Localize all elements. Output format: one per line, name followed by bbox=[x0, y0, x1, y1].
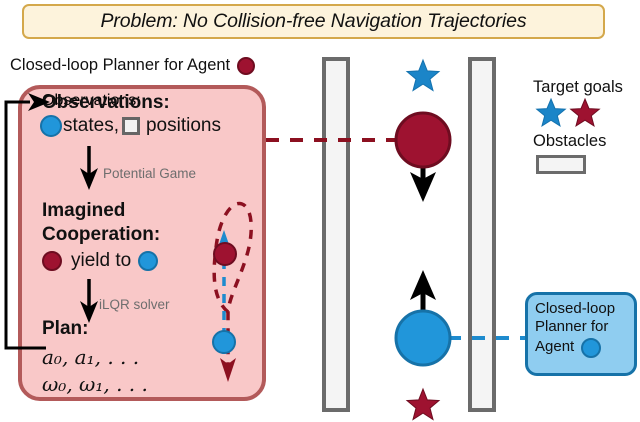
feedback-loop-arrow bbox=[0, 90, 60, 370]
states-label: states, bbox=[63, 115, 119, 137]
red-agent-circle bbox=[396, 113, 450, 167]
observations-heading-text: Observations: bbox=[42, 92, 170, 114]
red-agent-group bbox=[392, 110, 454, 205]
diagram-canvas: Problem: No Collision-free Navigation Tr… bbox=[0, 0, 640, 421]
positions-label: positions bbox=[146, 115, 221, 137]
red-circle-icon bbox=[237, 57, 255, 75]
legend-red-star-icon bbox=[570, 98, 600, 128]
planner-header: Closed-loop Planner for Agent bbox=[10, 55, 255, 75]
blue-planner-panel: Closed-loop Planner for Agent bbox=[525, 292, 637, 376]
potential-game-arrow bbox=[78, 146, 100, 192]
problem-banner: Problem: No Collision-free Navigation Tr… bbox=[22, 4, 605, 39]
blue-panel-line2: Planner for bbox=[535, 318, 627, 336]
potential-game-label: Potential Game bbox=[103, 166, 196, 181]
feedback-loop-arrowhead bbox=[28, 93, 50, 111]
goal-star-blue bbox=[406, 59, 440, 93]
planner-header-label: Closed-loop Planner for Agent bbox=[10, 56, 230, 75]
blue-agent-group bbox=[392, 268, 454, 366]
mini-blue-agent bbox=[213, 331, 235, 353]
blue-panel-line3: Agent bbox=[535, 338, 574, 356]
plan-line-omegas: ω₀, ω₁, . . . bbox=[42, 372, 148, 396]
square-icon bbox=[122, 117, 140, 135]
obstacle-right bbox=[468, 57, 496, 412]
observations-row: states, positions bbox=[40, 115, 221, 137]
yield-to-label: yield to bbox=[71, 250, 131, 272]
obstacle-left bbox=[322, 57, 350, 412]
blue-panel-line1: Closed-loop bbox=[535, 300, 627, 318]
inner-trajectory-illustration bbox=[198, 182, 266, 382]
legend-obstacles-label: Obstacles bbox=[533, 132, 606, 151]
feedback-loop-path bbox=[6, 102, 46, 348]
blue-circle-icon bbox=[581, 338, 601, 358]
mini-red-agent bbox=[214, 243, 236, 265]
blue-circle-icon bbox=[138, 251, 158, 271]
legend-obstacle-icon bbox=[536, 155, 586, 174]
goal-star-red bbox=[406, 388, 440, 422]
blue-agent-circle bbox=[396, 311, 450, 365]
legend-blue-star-icon bbox=[536, 98, 566, 128]
ilqr-solver-label: iLQR solver bbox=[99, 297, 170, 312]
red-trajectory-arrowhead bbox=[220, 358, 236, 382]
legend-goals-label: Target goals bbox=[533, 78, 623, 97]
banner-title: Problem: No Collision-free Navigation Tr… bbox=[101, 10, 527, 33]
blue-panel-line3-row: Agent bbox=[535, 338, 627, 358]
